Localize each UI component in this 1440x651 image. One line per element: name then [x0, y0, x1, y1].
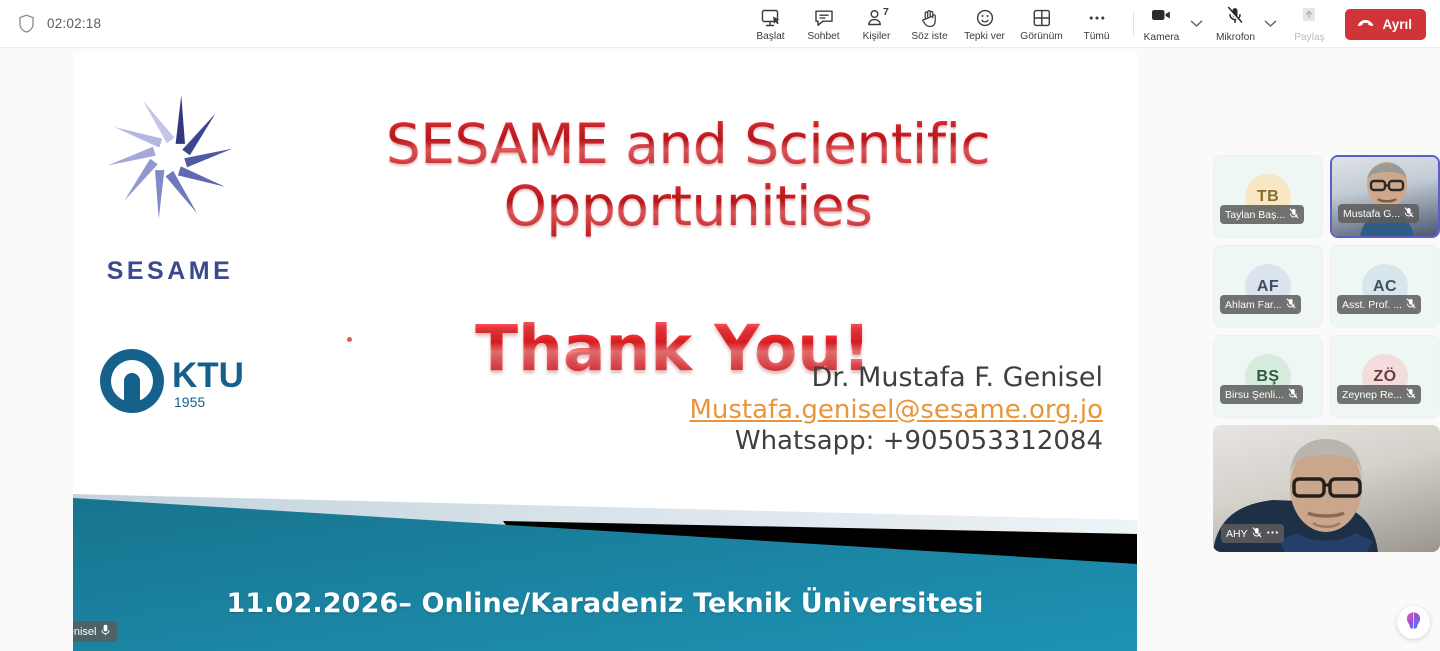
- mic-muted-icon: [1406, 298, 1416, 312]
- microphone-options-button[interactable]: [1259, 0, 1281, 48]
- mic-muted-icon: [1289, 208, 1299, 222]
- participant-name: Asst. Prof. ...: [1342, 299, 1402, 311]
- avatar-initials: TB: [1257, 188, 1279, 206]
- participant-tile[interactable]: TB Taylan Baş...: [1213, 155, 1323, 238]
- toolbar-device-group: Kamera Mikrofon Paylaş: [1133, 0, 1440, 48]
- camera-label: Kamera: [1144, 32, 1180, 43]
- participant-tile[interactable]: AC Asst. Prof. ...: [1330, 245, 1440, 328]
- participant-name: Ahlam Far...: [1225, 299, 1282, 311]
- people-button[interactable]: 7 Kişiler: [850, 0, 903, 48]
- camera-button[interactable]: Kamera: [1133, 0, 1189, 48]
- slide-title: SESAME and Scientific Opportunities: [323, 114, 1053, 237]
- raise-hand-label: Söz iste: [911, 31, 947, 42]
- reaction-button[interactable]: Tepki ver: [956, 0, 1013, 48]
- copilot-icon: [1404, 611, 1423, 635]
- leave-label: Ayrıl: [1382, 17, 1412, 32]
- participant-name-badge: Mustafa G...: [1338, 204, 1419, 223]
- avatar-initials: ZÖ: [1373, 368, 1396, 386]
- share-up-icon: [1298, 5, 1320, 30]
- presenter-email[interactable]: Mustafa.genisel@sesame.org.jo: [689, 395, 1103, 426]
- slide-title-line2: Opportunities: [323, 176, 1053, 238]
- chat-label: Sohbet: [807, 31, 839, 42]
- meeting-toolbar: 02:02:18 Başlat Sohbet 7 Kişiler: [0, 0, 1440, 48]
- mic-icon: [101, 624, 110, 639]
- bullet-dot: [347, 337, 352, 342]
- avatar-initials: AC: [1373, 278, 1397, 296]
- chat-button[interactable]: Sohbet: [797, 0, 850, 48]
- raise-hand-icon: [919, 7, 941, 29]
- featured-participant-tile[interactable]: AHY: [1213, 425, 1440, 552]
- mic-muted-icon: [1406, 388, 1416, 402]
- participant-tile[interactable]: AF Ahlam Far...: [1213, 245, 1323, 328]
- camera-options-button[interactable]: [1185, 0, 1207, 48]
- participant-tile[interactable]: ZÖ Zeynep Re...: [1330, 335, 1440, 418]
- participant-name-badge: Asst. Prof. ...: [1337, 295, 1421, 314]
- shield-icon: [18, 14, 35, 33]
- mic-muted-icon: [1223, 5, 1247, 30]
- participant-name-badge: Taylan Baş...: [1220, 205, 1304, 224]
- participant-rail: TB Taylan Baş... Mustafa G...: [1213, 155, 1440, 552]
- people-label: Kişiler: [863, 31, 891, 42]
- presentation-slide: SESAME KTU 1955 SESAME and Scientific Op…: [73, 52, 1137, 651]
- slide-banner-text: 11.02.2026– Online/Karadeniz Teknik Üniv…: [73, 588, 1137, 619]
- participant-tile[interactable]: BŞ Birsu Şenli...: [1213, 335, 1323, 418]
- reaction-label: Tepki ver: [964, 31, 1005, 42]
- participant-name-badge: Ahlam Far...: [1220, 295, 1301, 314]
- participant-name-badge: Birsu Şenli...: [1220, 385, 1303, 404]
- slide-title-line1: SESAME and Scientific: [323, 114, 1053, 176]
- avatar-initials: AF: [1257, 278, 1279, 296]
- more-label: Tümü: [1083, 31, 1109, 42]
- mic-muted-icon: [1252, 527, 1262, 541]
- self-name-label: Mustafa Genisel: [73, 626, 96, 638]
- participant-video-figure: [1330, 155, 1440, 238]
- mic-muted-icon: [1404, 207, 1414, 221]
- featured-name: AHY: [1226, 528, 1248, 540]
- featured-name-badge: AHY: [1221, 524, 1284, 543]
- participant-name: Mustafa G...: [1343, 208, 1400, 220]
- share-start-button[interactable]: Başlat: [744, 0, 797, 48]
- chevron-down-icon: [1190, 15, 1203, 33]
- microphone-label: Mikrofon: [1216, 32, 1255, 43]
- grid-view-icon: [1031, 7, 1053, 29]
- avatar-initials: BŞ: [1256, 368, 1279, 386]
- sesame-logo-icon: [95, 82, 245, 232]
- share-button[interactable]: Paylaş: [1281, 0, 1337, 48]
- participant-name: Taylan Baş...: [1225, 209, 1285, 221]
- share-start-label: Başlat: [756, 31, 784, 42]
- present-screen-icon: [760, 7, 782, 29]
- camera-on-icon: [1149, 5, 1173, 30]
- more-button[interactable]: Tümü: [1070, 0, 1123, 48]
- copilot-button[interactable]: [1397, 606, 1430, 639]
- shared-content-stage[interactable]: SESAME KTU 1955 SESAME and Scientific Op…: [73, 52, 1137, 651]
- self-name-badge: Mustafa Genisel: [73, 621, 117, 642]
- raise-hand-button[interactable]: Söz iste: [903, 0, 956, 48]
- svg-text:KTU: KTU: [172, 356, 244, 395]
- presenter-name: Dr. Mustafa F. Genisel: [503, 362, 1103, 395]
- leave-button[interactable]: Ayrıl: [1345, 9, 1426, 40]
- people-count-badge: 7: [883, 6, 889, 18]
- share-label: Paylaş: [1294, 32, 1325, 43]
- view-label: Görünüm: [1020, 31, 1062, 42]
- chevron-down-icon: [1264, 15, 1277, 33]
- view-button[interactable]: Görünüm: [1013, 0, 1070, 48]
- presenter-whatsapp: Whatsapp: +905053312084: [503, 426, 1103, 458]
- ktu-logo-icon: KTU 1955: [98, 347, 273, 415]
- more-ellipsis-icon[interactable]: [1266, 527, 1279, 541]
- sesame-wordmark: SESAME: [95, 257, 245, 286]
- smiley-reaction-icon: [974, 7, 996, 29]
- participant-name: Birsu Şenli...: [1225, 389, 1284, 401]
- toolbar-actions: Başlat Sohbet 7 Kişiler Söz iste T: [744, 0, 1144, 48]
- hangup-phone-icon: [1356, 17, 1375, 32]
- microphone-button[interactable]: Mikrofon: [1207, 0, 1263, 48]
- participant-name-badge: Zeynep Re...: [1337, 385, 1421, 404]
- mic-muted-icon: [1286, 298, 1296, 312]
- participant-grid: TB Taylan Baş... Mustafa G...: [1213, 155, 1440, 418]
- meeting-timer: 02:02:18: [47, 16, 101, 31]
- contact-block: Dr. Mustafa F. Genisel Mustafa.genisel@s…: [503, 362, 1103, 458]
- svg-text:1955: 1955: [174, 394, 205, 410]
- more-ellipsis-icon: [1086, 7, 1108, 29]
- slide-decoration-wave: [73, 476, 1137, 651]
- toolbar-left-group: 02:02:18: [18, 14, 318, 33]
- participant-name: Zeynep Re...: [1342, 389, 1402, 401]
- participant-tile[interactable]: Mustafa G...: [1330, 155, 1440, 238]
- mic-muted-icon: [1288, 388, 1298, 402]
- chat-bubble-icon: [813, 7, 835, 29]
